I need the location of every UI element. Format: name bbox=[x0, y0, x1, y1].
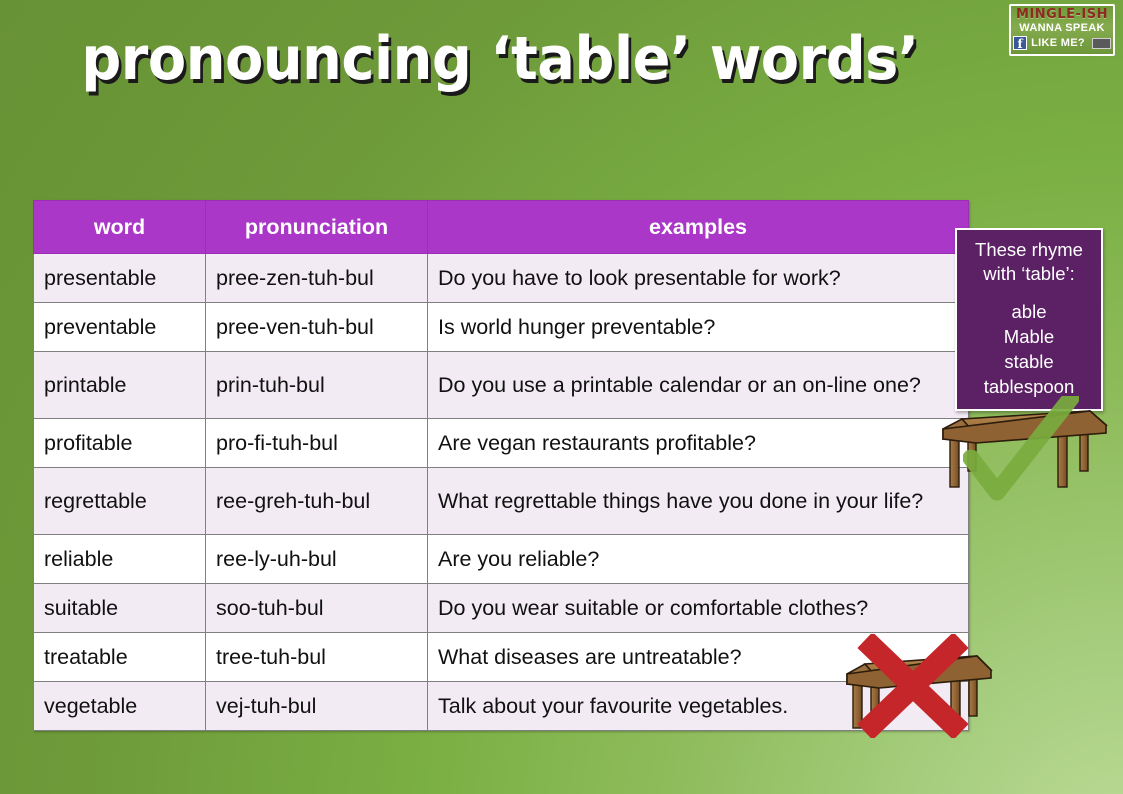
table-row: printable prin-tuh-bul Do you use a prin… bbox=[34, 352, 969, 419]
table-body: presentable pree-zen-tuh-bul Do you have… bbox=[34, 254, 969, 731]
table-row: treatable tree-tuh-bul What diseases are… bbox=[34, 633, 969, 682]
logo-facebook-row: f LIKE ME? bbox=[1011, 36, 1113, 50]
mingle-ish-logo[interactable]: MINGLE-ISH WANNA SPEAK f LIKE ME? bbox=[1009, 4, 1115, 56]
cell-example: Do you have to look presentable for work… bbox=[428, 254, 969, 303]
cell-word: presentable bbox=[34, 254, 206, 303]
page-title: pronouncing ‘table’ words’ bbox=[35, 24, 965, 94]
table-row: profitable pro-fi-tuh-bul Are vegan rest… bbox=[34, 419, 969, 468]
logo-brand-text: MINGLE-ISH bbox=[1011, 7, 1113, 22]
cell-pronunciation: ree-greh-tuh-bul bbox=[206, 468, 428, 535]
table-row: preventable pree-ven-tuh-bul Is world hu… bbox=[34, 303, 969, 352]
cell-example: Is world hunger preventable? bbox=[428, 303, 969, 352]
cell-pronunciation: prin-tuh-bul bbox=[206, 352, 428, 419]
cell-pronunciation: pro-fi-tuh-bul bbox=[206, 419, 428, 468]
column-header-examples: examples bbox=[428, 201, 969, 254]
cell-pronunciation: tree-tuh-bul bbox=[206, 633, 428, 682]
cell-pronunciation: soo-tuh-bul bbox=[206, 584, 428, 633]
column-header-word: word bbox=[34, 201, 206, 254]
logo-like-text: LIKE ME? bbox=[1031, 37, 1085, 49]
rhyme-word: Mable bbox=[963, 324, 1095, 349]
logo-tagline-text: WANNA SPEAK bbox=[1011, 22, 1113, 35]
rhyme-word: able bbox=[963, 299, 1095, 324]
logo-chip-icon bbox=[1092, 38, 1111, 49]
table-row: presentable pree-zen-tuh-bul Do you have… bbox=[34, 254, 969, 303]
rhyme-note-heading: These rhyme with ‘table’: bbox=[963, 238, 1095, 286]
cell-word: preventable bbox=[34, 303, 206, 352]
table-row: vegetable vej-tuh-bul Talk about your fa… bbox=[34, 682, 969, 731]
cell-pronunciation: pree-ven-tuh-bul bbox=[206, 303, 428, 352]
wooden-table-good-icon bbox=[938, 403, 1112, 499]
table-row: regrettable ree-greh-tuh-bul What regret… bbox=[34, 468, 969, 535]
cell-word: reliable bbox=[34, 535, 206, 584]
cell-pronunciation: pree-zen-tuh-bul bbox=[206, 254, 428, 303]
table-header-row: word pronunciation examples bbox=[34, 201, 969, 254]
table-row: reliable ree-ly-uh-bul Are you reliable? bbox=[34, 535, 969, 584]
cell-word: printable bbox=[34, 352, 206, 419]
cell-pronunciation: vej-tuh-bul bbox=[206, 682, 428, 731]
facebook-icon[interactable]: f bbox=[1013, 36, 1027, 50]
cell-pronunciation: ree-ly-uh-bul bbox=[206, 535, 428, 584]
table-header: word pronunciation examples bbox=[34, 201, 969, 254]
slide-canvas: pronouncing ‘table’ words’ MINGLE-ISH WA… bbox=[0, 0, 1123, 794]
cell-word: regrettable bbox=[34, 468, 206, 535]
cell-word: profitable bbox=[34, 419, 206, 468]
cell-example: What regrettable things have you done in… bbox=[428, 468, 969, 535]
cell-word: suitable bbox=[34, 584, 206, 633]
column-header-pronunciation: pronunciation bbox=[206, 201, 428, 254]
rhyme-word: tablespoon bbox=[963, 374, 1095, 399]
rhyme-word-list: able Mable stable tablespoon bbox=[963, 299, 1095, 399]
cell-example: Are vegan restaurants profitable? bbox=[428, 419, 969, 468]
cell-example: Are you reliable? bbox=[428, 535, 969, 584]
cell-word: treatable bbox=[34, 633, 206, 682]
cell-example: Do you wear suitable or comfortable clot… bbox=[428, 584, 969, 633]
table-row: suitable soo-tuh-bul Do you wear suitabl… bbox=[34, 584, 969, 633]
wooden-table-bad-icon bbox=[843, 646, 995, 732]
rhyme-word: stable bbox=[963, 349, 1095, 374]
cell-word: vegetable bbox=[34, 682, 206, 731]
pronunciation-table: word pronunciation examples presentable … bbox=[33, 200, 969, 731]
rhyme-note-box: These rhyme with ‘table’: able Mable sta… bbox=[955, 228, 1103, 411]
cell-example: Do you use a printable calendar or an on… bbox=[428, 352, 969, 419]
